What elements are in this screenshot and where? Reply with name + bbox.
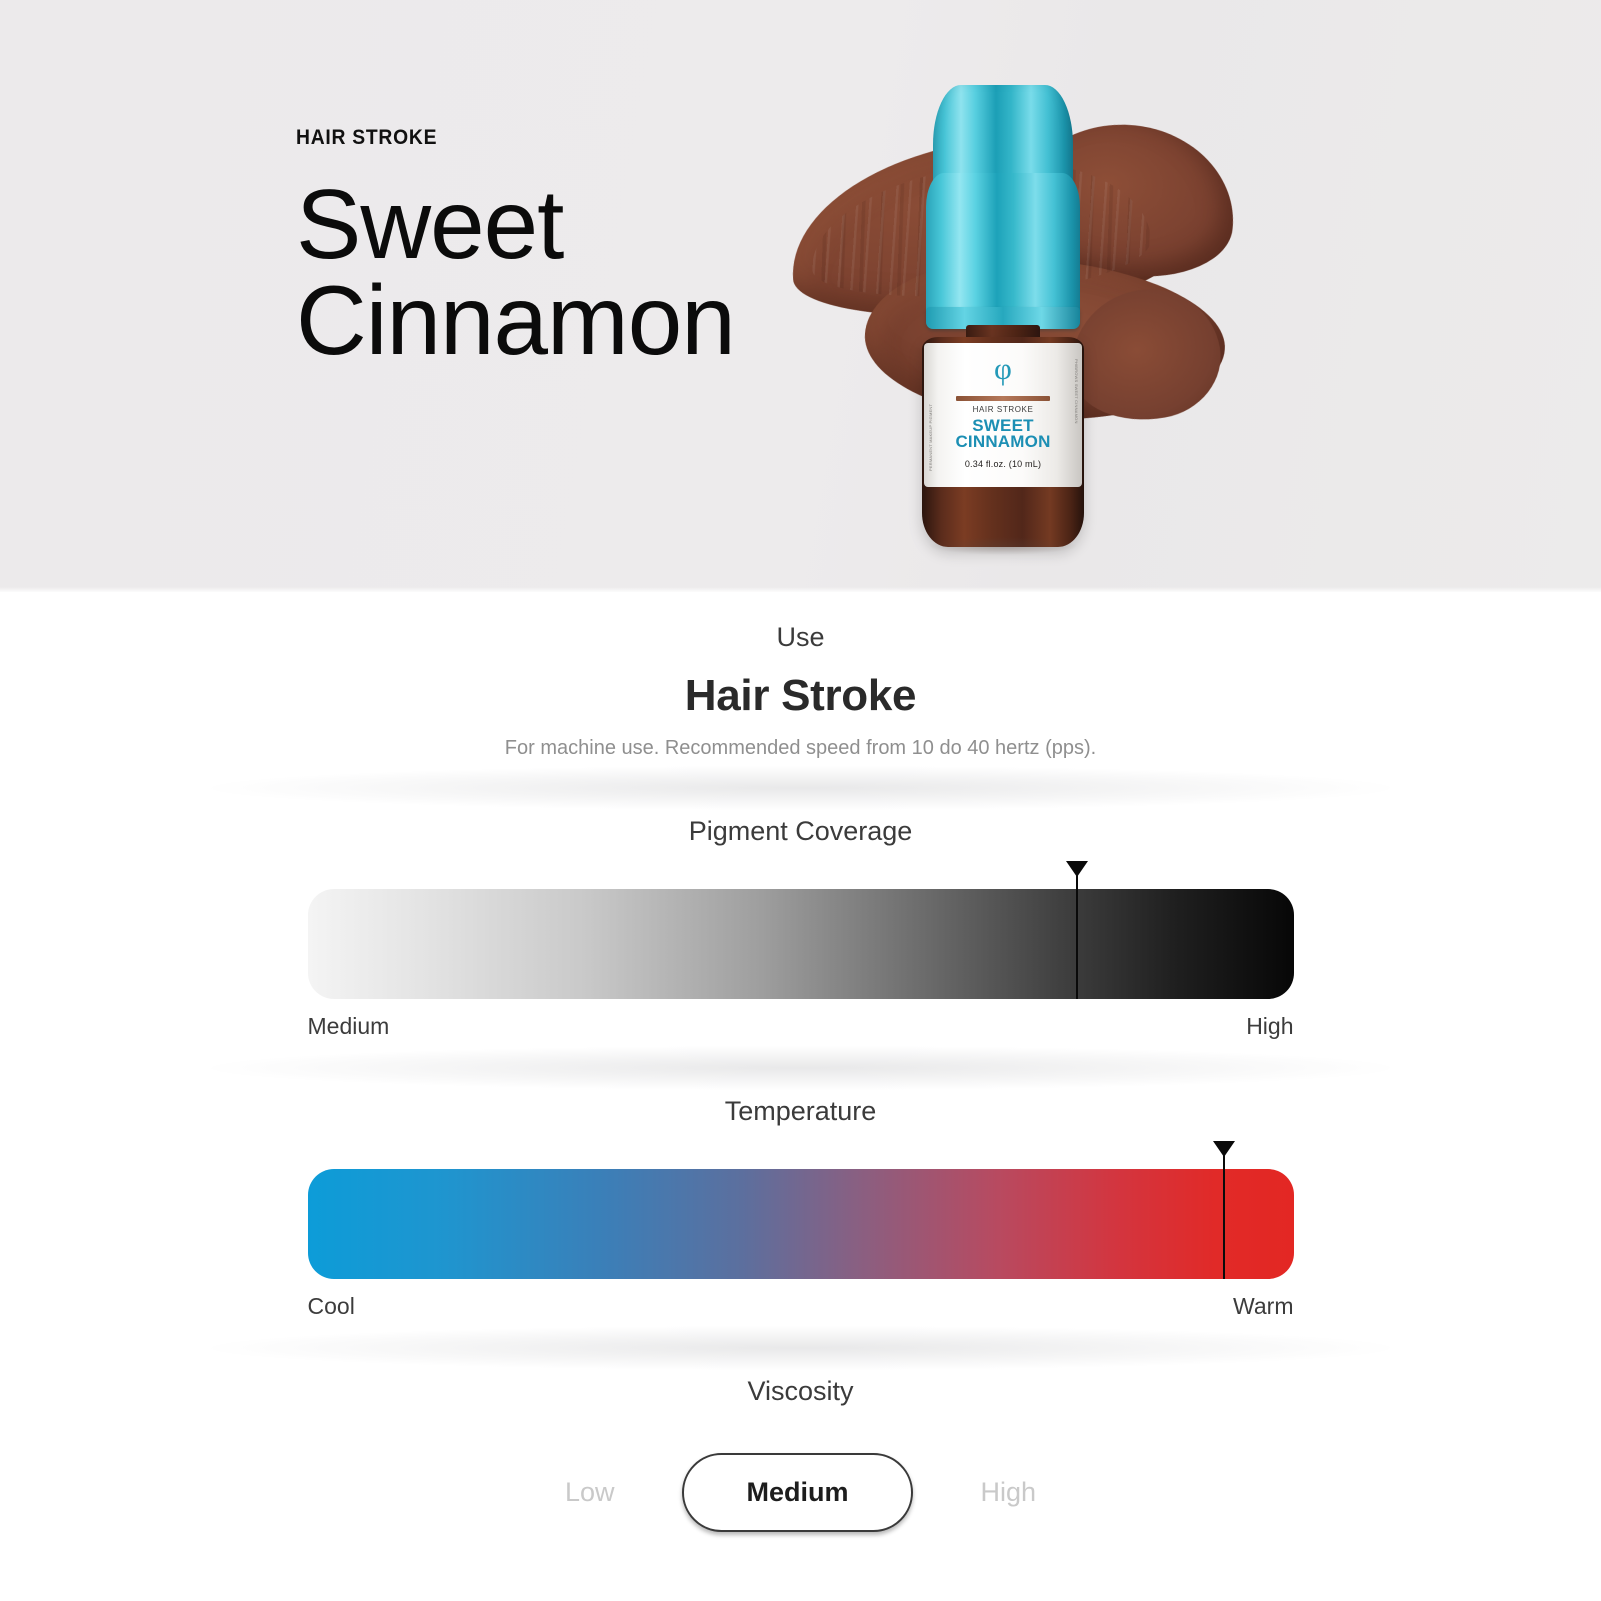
temperature-marker[interactable] [1223,1141,1225,1279]
use-value: Hair Stroke [0,671,1601,721]
product-image: PERMANENT MAKEUP PIGMENT PHIBROWS SWEET … [770,55,1250,555]
label-color-rule [956,396,1050,401]
label-volume: 0.34 fl.oz. (10 mL) [924,459,1082,469]
pigment-bottle: PERMANENT MAKEUP PIGMENT PHIBROWS SWEET … [910,85,1110,555]
pigment-coverage-marker[interactable] [1076,861,1078,999]
bottle-cap-shoulder [926,173,1080,323]
temperature-meter[interactable] [308,1169,1294,1279]
pigment-coverage-right-label: High [1246,1013,1293,1040]
viscosity-label: Viscosity [0,1376,1601,1407]
use-note: For machine use. Recommended speed from … [0,737,1601,760]
use-label: Use [0,622,1601,653]
viscosity-option-high[interactable]: High [977,1477,1041,1508]
section-divider [0,1040,1601,1096]
pigment-coverage-left-label: Medium [308,1013,390,1040]
section-viscosity: Viscosity LowMediumHigh [0,1376,1601,1532]
pigment-coverage-gradient-bar [308,889,1294,999]
pigment-coverage-label: Pigment Coverage [0,816,1601,847]
section-divider [0,760,1601,816]
pigment-coverage-scale-labels: Medium High [308,1013,1294,1040]
section-temperature: Temperature Cool Warm [0,1096,1601,1320]
temperature-scale-labels: Cool Warm [308,1293,1294,1320]
temperature-gradient-bar [308,1169,1294,1279]
hero-banner: HAIR STROKE Sweet Cinnamon PERMANENT MAK… [0,0,1601,592]
label-use-line: HAIR STROKE [924,405,1082,414]
section-use: Use Hair Stroke For machine use. Recomme… [0,592,1601,760]
viscosity-option-low[interactable]: Low [561,1477,619,1508]
specifications-panel: Use Hair Stroke For machine use. Recomme… [0,592,1601,1532]
section-pigment-coverage: Pigment Coverage Medium High [0,816,1601,1040]
temperature-label: Temperature [0,1096,1601,1127]
section-divider [0,1320,1601,1376]
phi-logo-icon: φ [924,353,1082,384]
temperature-left-label: Cool [308,1293,355,1320]
bottle-label: PERMANENT MAKEUP PIGMENT PHIBROWS SWEET … [924,343,1082,487]
temperature-right-label: Warm [1233,1293,1293,1320]
bottle-shadow [928,537,1078,555]
viscosity-option-medium[interactable]: Medium [682,1453,912,1532]
pigment-coverage-meter[interactable] [308,889,1294,999]
label-product-name: SWEET CINNAMON [924,418,1082,450]
viscosity-options: LowMediumHigh [0,1453,1601,1532]
